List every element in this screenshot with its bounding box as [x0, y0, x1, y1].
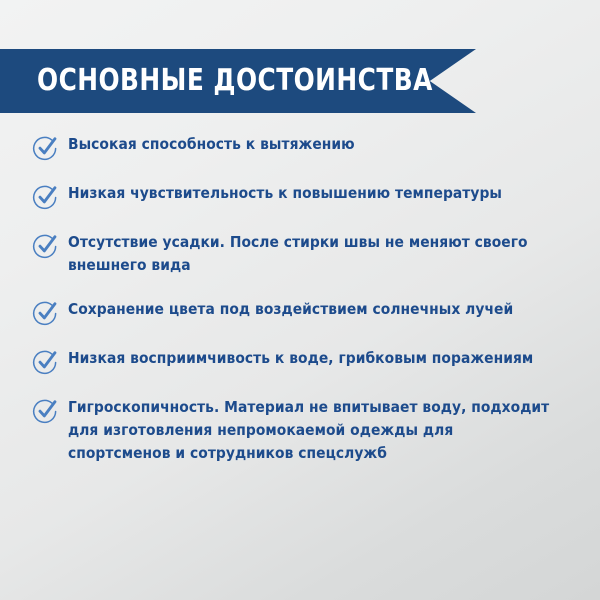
check-circle-icon — [32, 299, 59, 326]
list-item-label: Низкая восприимчивость к воде, грибковым… — [68, 347, 533, 370]
list-item: Низкая чувствительность к повышению темп… — [0, 182, 600, 210]
check-circle-icon — [32, 134, 59, 161]
list-item: Сохранение цвета под воздействием солнеч… — [0, 298, 600, 326]
header-banner: ОСНОВНЫЕ ДОСТОИНСТВА — [0, 49, 476, 113]
check-circle-icon — [32, 397, 59, 424]
list-item: Низкая восприимчивость к воде, грибковым… — [0, 347, 600, 375]
check-circle-icon — [32, 183, 59, 210]
check-circle-icon — [32, 232, 59, 259]
list-item: Отсутствие усадки. После стирки швы не м… — [0, 231, 600, 277]
list-item-label: Гигроскопичность. Материал не впитывает … — [68, 396, 560, 465]
advantages-list: Высокая способность к вытяжению Низкая ч… — [0, 133, 600, 486]
list-item-label: Низкая чувствительность к повышению темп… — [68, 182, 502, 205]
list-item-label: Сохранение цвета под воздействием солнеч… — [68, 298, 513, 321]
list-item: Высокая способность к вытяжению — [0, 133, 600, 161]
advantages-infographic: ОСНОВНЫЕ ДОСТОИНСТВА Высокая способность… — [0, 0, 600, 600]
page-title: ОСНОВНЫЕ ДОСТОИНСТВА — [37, 66, 433, 96]
list-item-label: Отсутствие усадки. После стирки швы не м… — [68, 231, 560, 277]
list-item-label: Высокая способность к вытяжению — [68, 133, 355, 156]
check-circle-icon — [32, 348, 59, 375]
list-item: Гигроскопичность. Материал не впитывает … — [0, 396, 600, 465]
